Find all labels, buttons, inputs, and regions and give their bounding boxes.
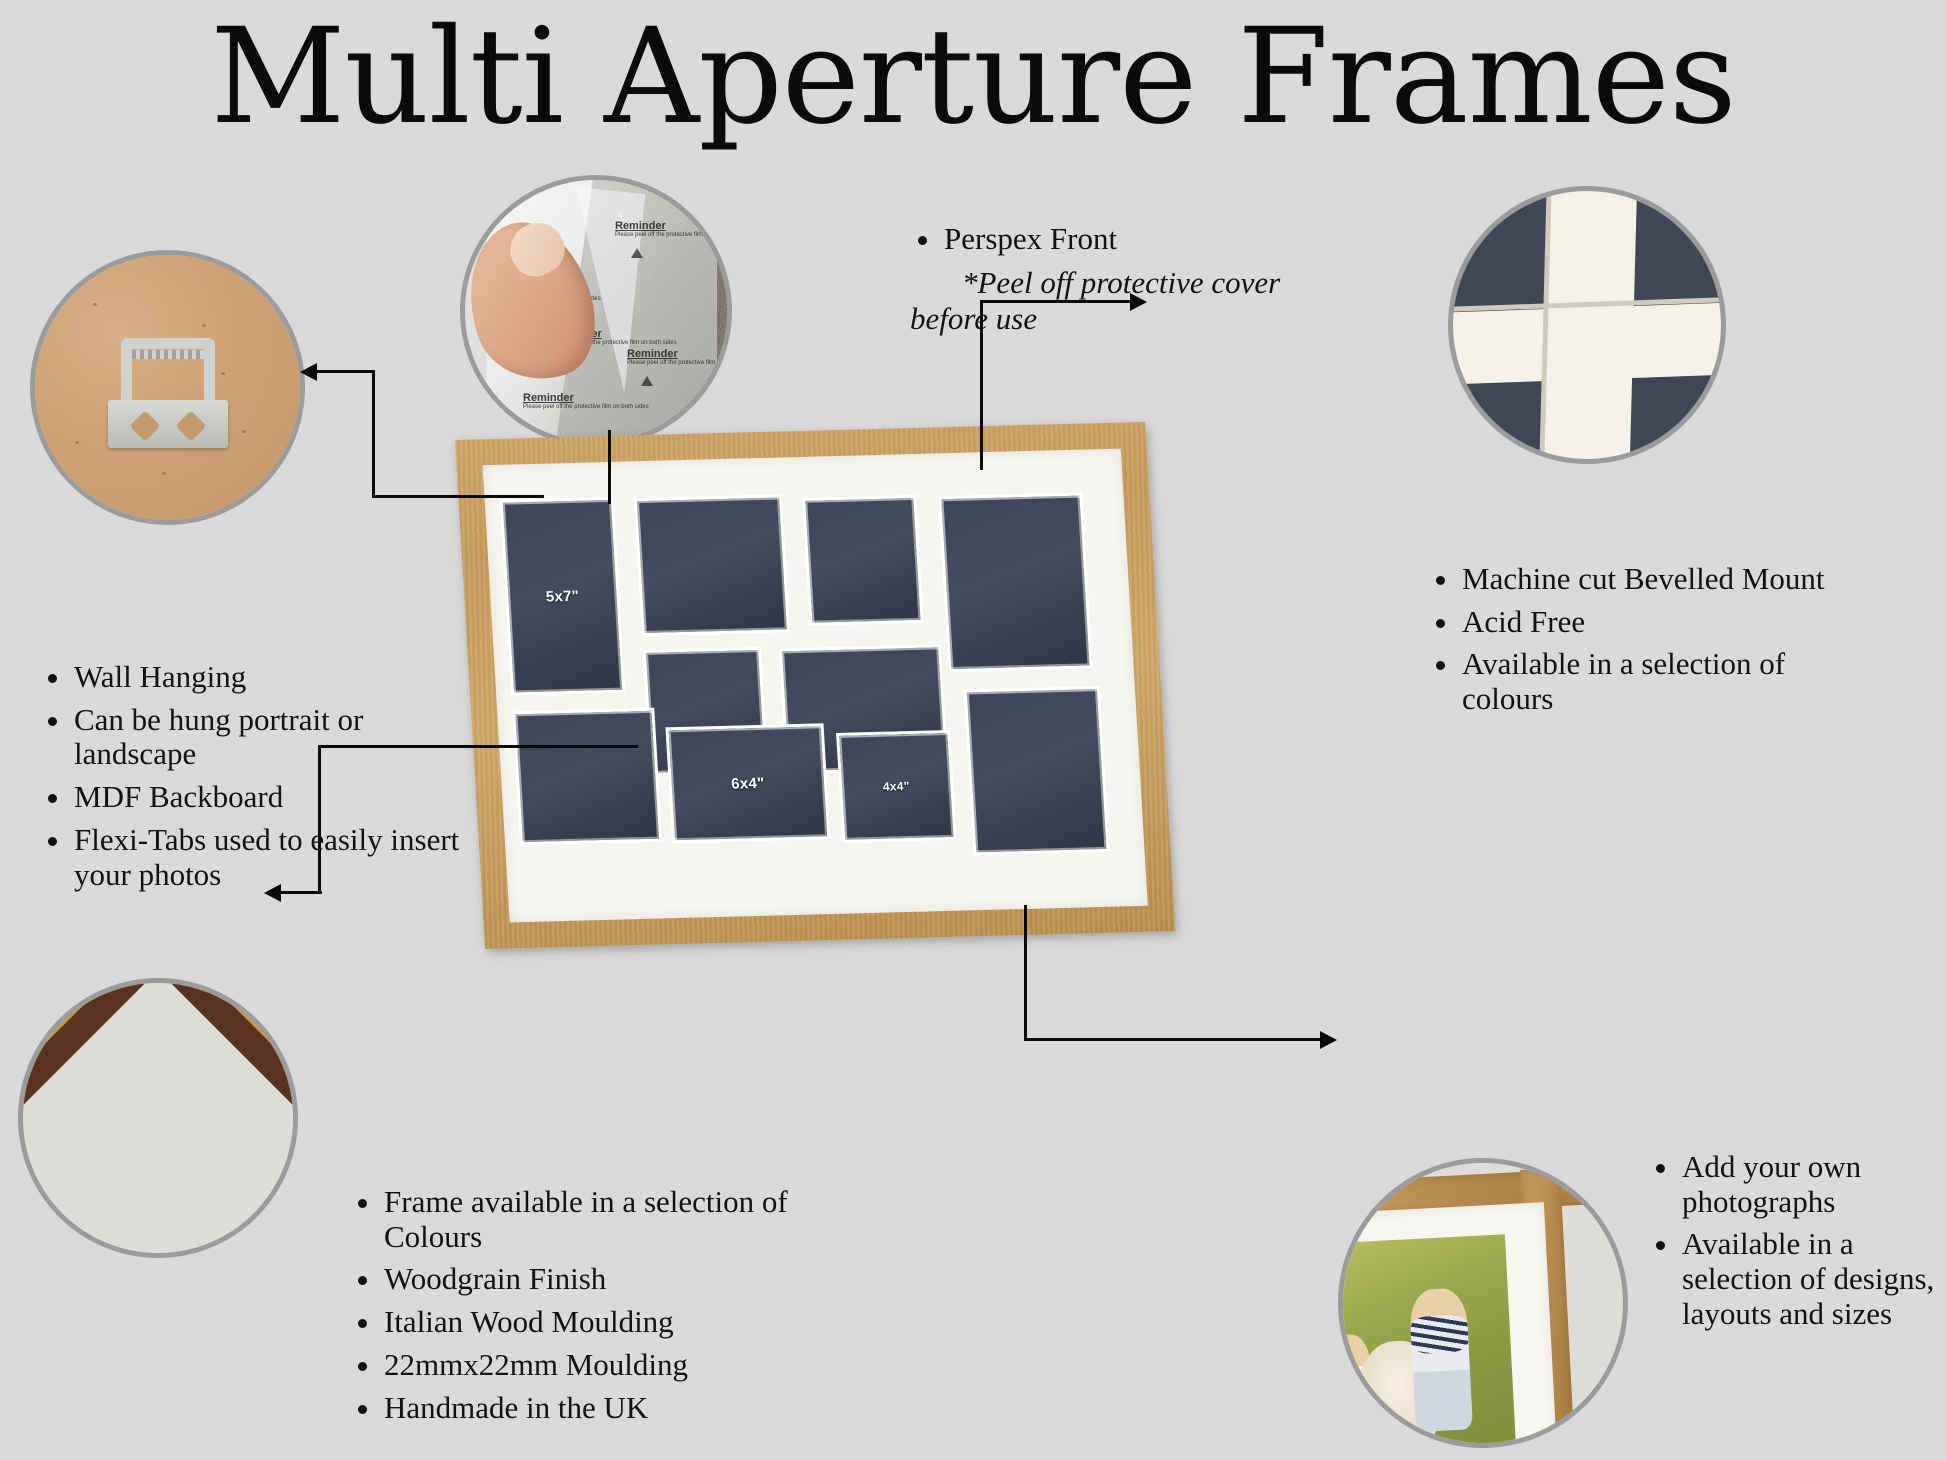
aperture: 4x4": [839, 733, 953, 840]
connector-backboard: [300, 370, 600, 500]
connector-perspex: [600, 430, 640, 505]
callout-hanging-list: Wall Hanging Can be hung portrait or lan…: [40, 660, 460, 900]
aperture-size-label: 4x4": [882, 779, 910, 794]
striped-top: [1410, 1314, 1469, 1354]
reminder-label: Reminder Please peel off the protective …: [615, 220, 732, 239]
callout-perspex: Perspex Front *Peel off protective cover…: [910, 222, 1330, 338]
framed-photo-corner: [1343, 1163, 1623, 1443]
perspex-note-line-1: *Peel off protective cover: [910, 265, 1330, 302]
aperture: 5x7": [503, 500, 622, 692]
inset-moulding-colours: [18, 978, 298, 1258]
moulding-samples: [23, 983, 293, 1253]
mount-horizontal-bar: [1448, 303, 1726, 385]
flexi-tab-hanger-icon: [108, 338, 228, 448]
list-item: Acid Free: [1428, 605, 1868, 640]
list-item: Handmade in the UK: [350, 1391, 810, 1426]
aperture: [805, 498, 920, 623]
aperture: [941, 496, 1089, 669]
callout-mount-list: Machine cut Bevelled Mount Acid Free Ava…: [1428, 562, 1868, 725]
list-item: Machine cut Bevelled Mount: [1428, 562, 1868, 597]
list-item: Flexi-Tabs used to easily insert your ph…: [40, 823, 460, 892]
aperture: 6x4": [669, 726, 828, 840]
perspex-note-line-2: before use: [910, 301, 1330, 338]
list-item: Woodgrain Finish: [350, 1262, 810, 1297]
list-item: Available in a selection of designs, lay…: [1648, 1227, 1938, 1331]
list-item: Perspex Front: [910, 222, 1330, 257]
page-title: Multi Aperture Frames: [0, 8, 1946, 147]
reminder-label: Reminder Please peel off the protective …: [627, 348, 732, 367]
backboard-surface: [35, 255, 300, 520]
photograph: [1338, 1234, 1517, 1448]
poster-canvas: Multi Aperture Frames R: [0, 0, 1946, 1460]
callout-moulding-list: Frame available in a selection of Colour…: [350, 1185, 810, 1433]
list-item: Available in a selection of colours: [1428, 647, 1868, 716]
aperture-size-label: 5x7": [545, 587, 579, 605]
list-item: Add your own photographs: [1648, 1150, 1938, 1219]
callout-photos-list: Add your own photographs Available in a …: [1648, 1150, 1938, 1340]
list-item: Wall Hanging: [40, 660, 460, 695]
list-item: 22mmx22mm Moulding: [350, 1348, 810, 1383]
inset-framed-photograph: [1338, 1158, 1628, 1448]
aperture: [637, 498, 787, 633]
aperture-size-label: 6x4": [731, 774, 765, 792]
woman-figure: [1409, 1286, 1473, 1431]
list-item: MDF Backboard: [40, 780, 460, 815]
connector-photo: [1000, 905, 1360, 1050]
aperture: [967, 689, 1107, 852]
list-item: Can be hung portrait or landscape: [40, 703, 460, 772]
list-item: Frame available in a selection of Colour…: [350, 1185, 810, 1254]
list-item: Italian Wood Moulding: [350, 1305, 810, 1340]
inset-bevelled-mount: [1448, 186, 1726, 464]
inset-mdf-backboard: [30, 250, 305, 525]
bevel-surface: [1453, 191, 1721, 459]
